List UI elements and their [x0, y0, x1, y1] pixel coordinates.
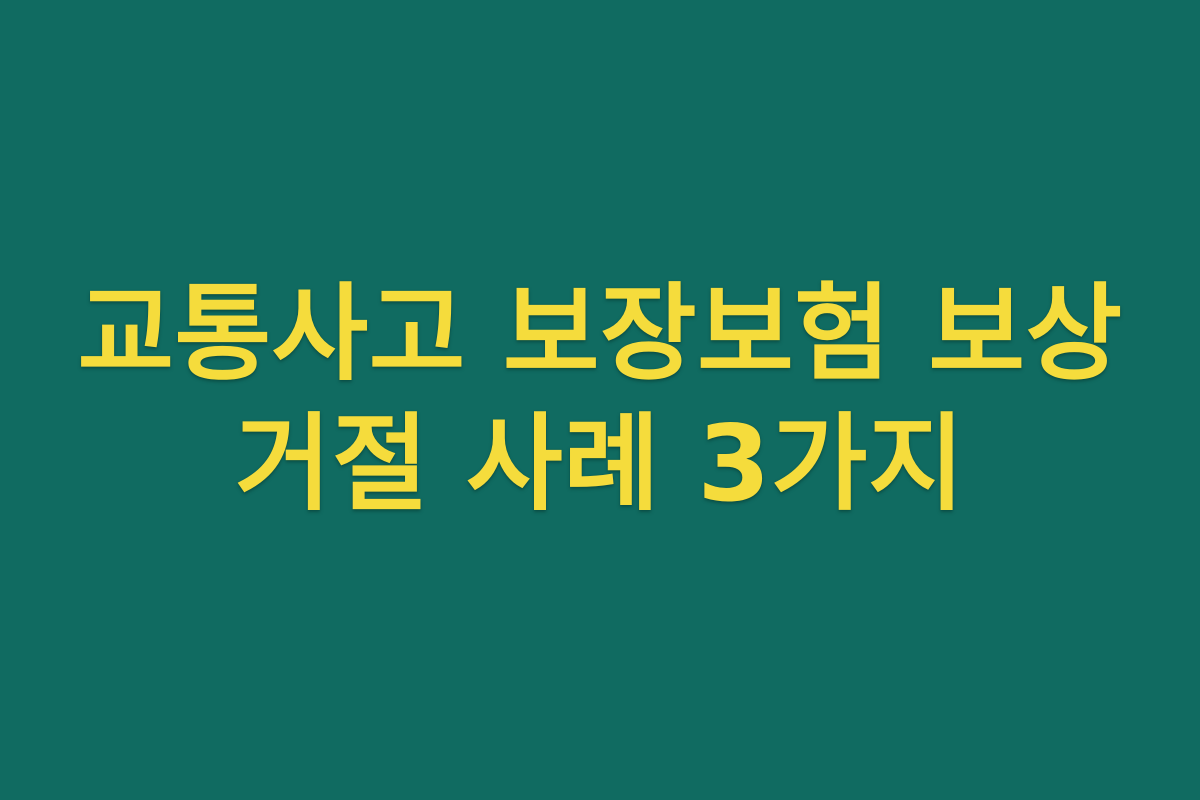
headline-line-2: 거절 사례 3가지 [40, 399, 1160, 529]
headline-line-1: 교통사고 보장보험 보상 [40, 269, 1160, 399]
poster-canvas: 교통사고 보장보험 보상 거절 사례 3가지 [0, 0, 1200, 800]
headline-block: 교통사고 보장보험 보상 거절 사례 3가지 [0, 269, 1200, 529]
